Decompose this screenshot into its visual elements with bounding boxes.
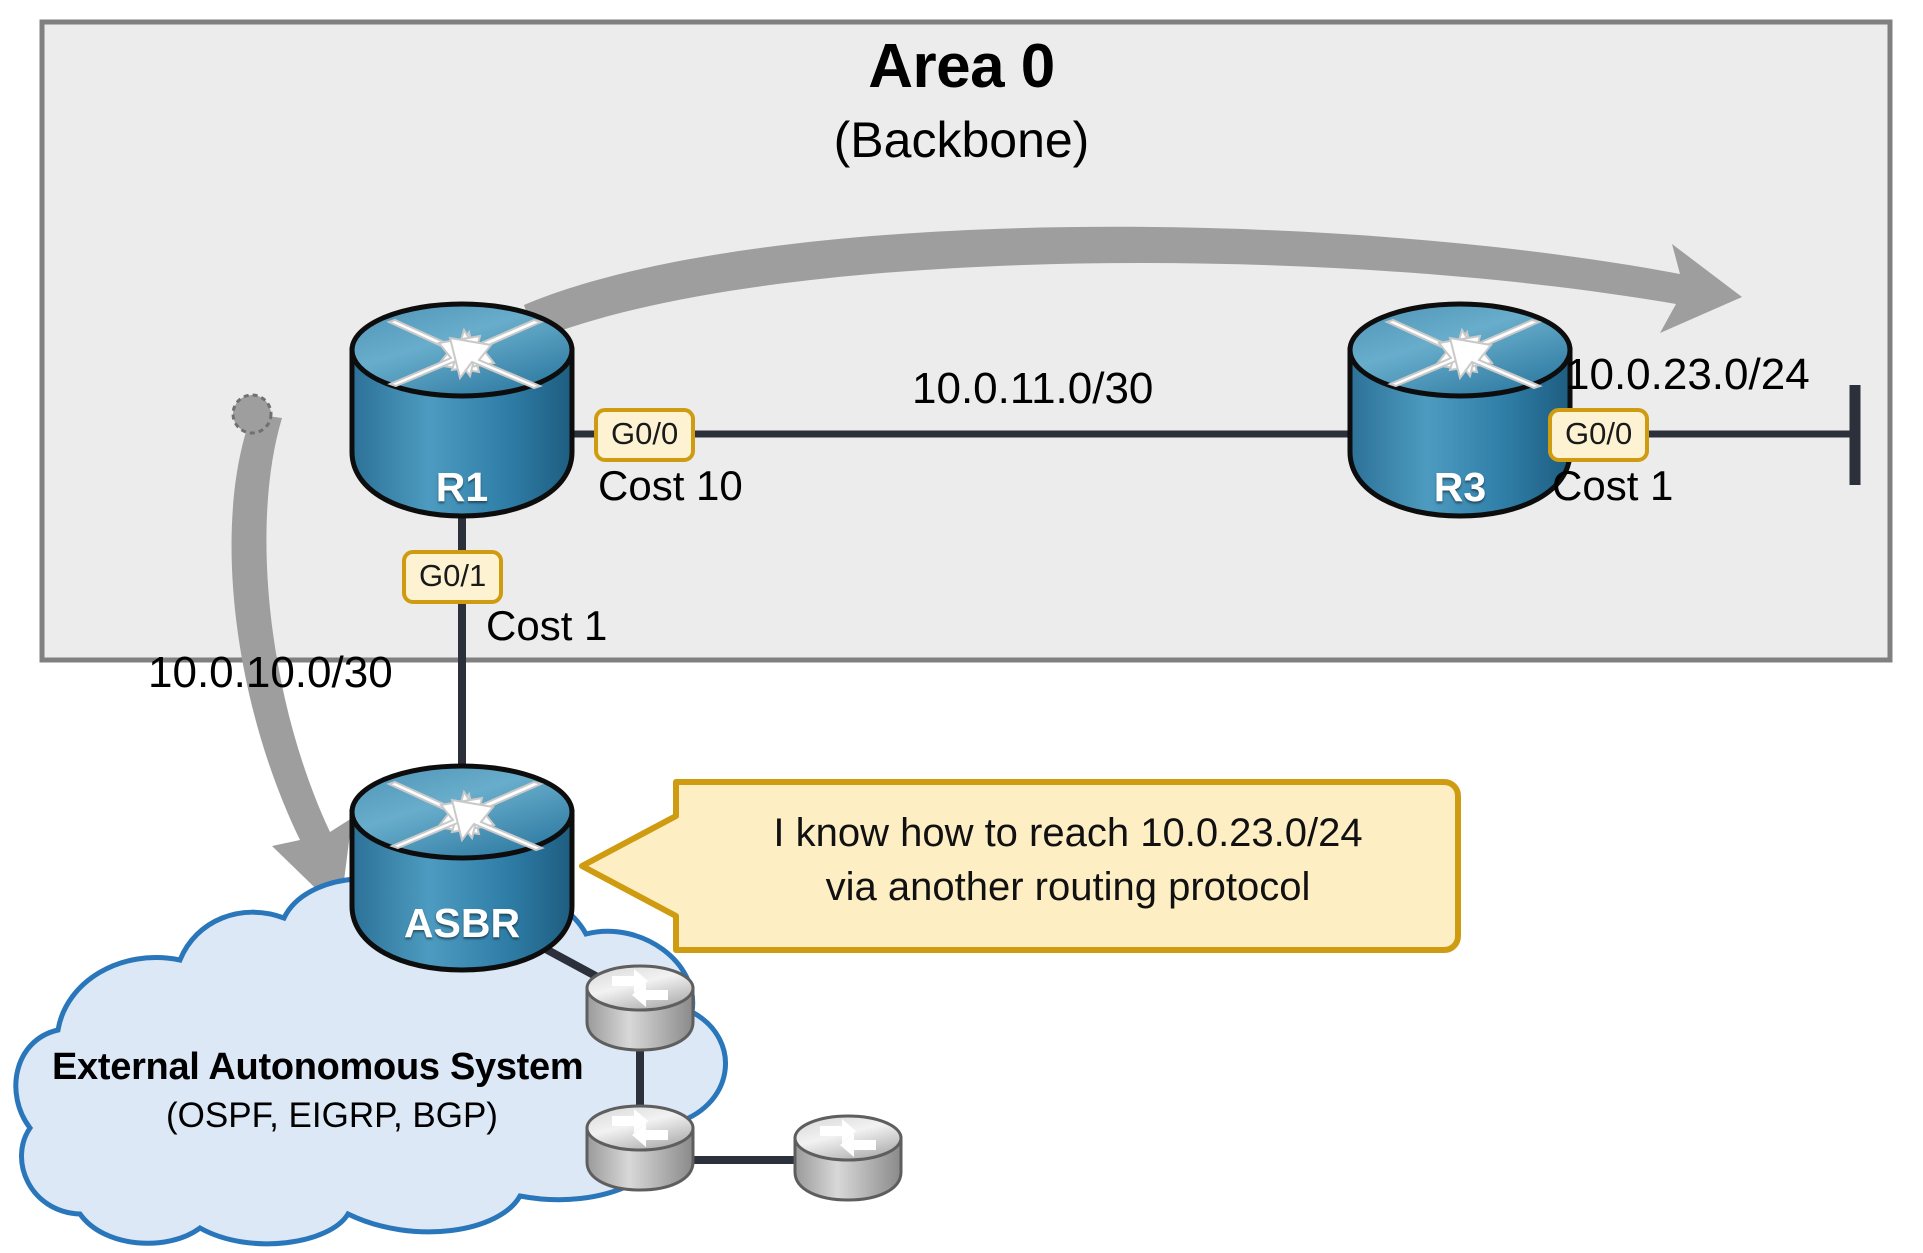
interface-badge-r3-g00[interactable]: G0/0 <box>1548 408 1649 462</box>
callout-line-1: I know how to reach 10.0.23.0/24 <box>690 808 1446 859</box>
router-label-asbr: ASBR <box>352 900 572 947</box>
router-label-r3: R3 <box>1350 464 1570 511</box>
cloud-title: External Autonomous System <box>52 1048 583 1088</box>
cost-label-r1-g01: Cost 1 <box>486 604 607 648</box>
subnet-label-r3-lan: 10.0.23.0/24 <box>1565 352 1810 398</box>
area-title: Area 0 <box>0 34 1923 99</box>
subnet-label-r1-asbr: 10.0.10.0/30 <box>148 650 393 696</box>
router-label-r1: R1 <box>352 464 572 511</box>
external-router-1 <box>587 966 693 1050</box>
area-subtitle: (Backbone) <box>0 114 1923 167</box>
cloud-subtitle: (OSPF, EIGRP, BGP) <box>52 1098 612 1135</box>
subnet-label-r1-r3: 10.0.11.0/30 <box>912 366 1153 412</box>
interface-badge-r1-g00[interactable]: G0/0 <box>594 408 695 462</box>
diagram-canvas: Area 0 (Backbone) R1 G0/0 Cost 10 G0/1 C… <box>0 0 1923 1253</box>
cost-label-r3-g00: Cost 1 <box>1552 464 1673 508</box>
interface-badge-r1-g01[interactable]: G0/1 <box>402 550 503 604</box>
callout-line-2: via another routing protocol <box>690 862 1446 913</box>
cost-label-r1-g00: Cost 10 <box>598 464 743 508</box>
external-router-3 <box>795 1116 901 1200</box>
